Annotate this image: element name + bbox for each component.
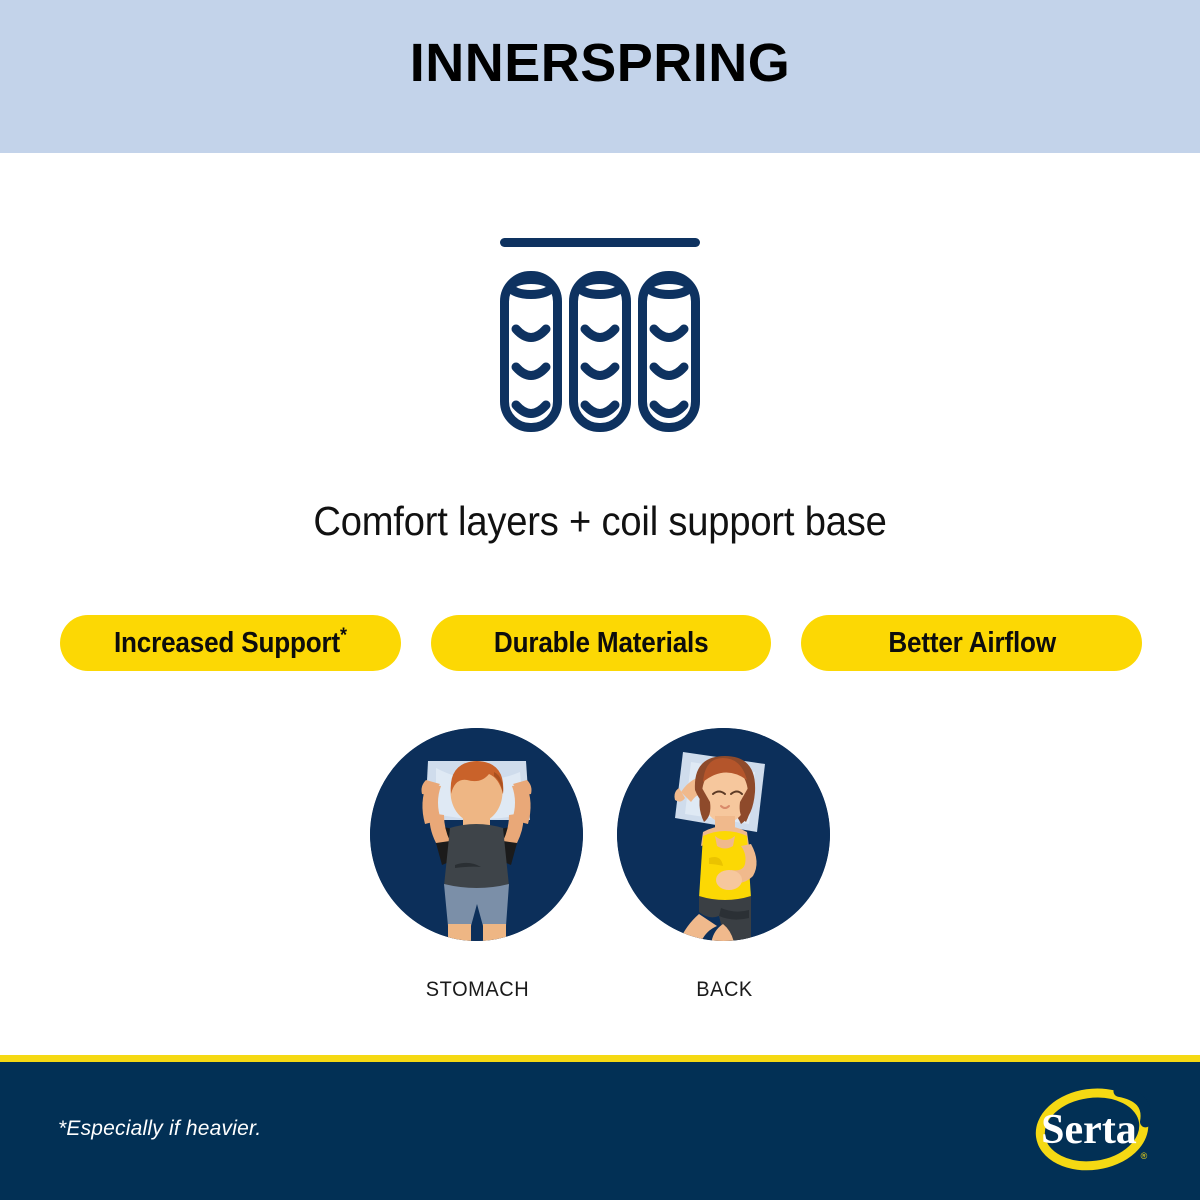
- sleep-positions-row: STOMACH: [0, 728, 1200, 1018]
- footnote-text: *Especially if heavier.: [58, 1117, 261, 1141]
- footer-accent-stripe: [0, 1055, 1200, 1062]
- coil-top-bar: [500, 238, 700, 247]
- feature-pill-label: Better Airflow: [888, 627, 1056, 659]
- sleep-position-label: STOMACH: [375, 978, 579, 1002]
- infographic-page: INNERSPRING: [0, 0, 1200, 1200]
- serta-logo[interactable]: Serta ®: [1032, 1083, 1158, 1179]
- registered-trademark-icon: ®: [1141, 1151, 1148, 1161]
- feature-pill-increased-support[interactable]: Increased Support*: [60, 615, 401, 671]
- feature-pill-row: Increased Support* Durable Materials Bet…: [60, 615, 1142, 671]
- feature-pill-label: Durable Materials: [494, 627, 709, 659]
- footnote-marker: *: [340, 624, 347, 646]
- feature-pill-better-airflow[interactable]: Better Airflow: [801, 615, 1142, 671]
- sleep-position-stomach[interactable]: STOMACH: [370, 728, 585, 1002]
- sleep-position-label: BACK: [622, 978, 826, 1002]
- stomach-sleeper-illustration: [370, 728, 583, 941]
- back-sleeper-illustration: [617, 728, 830, 941]
- feature-pill-durable-materials[interactable]: Durable Materials: [431, 615, 772, 671]
- serta-wordmark: Serta: [1041, 1107, 1137, 1153]
- subtitle: Comfort layers + coil support base: [42, 498, 1158, 545]
- feature-pill-label: Increased Support: [114, 627, 340, 659]
- sleep-position-back[interactable]: BACK: [617, 728, 832, 1002]
- page-title: INNERSPRING: [0, 0, 1200, 153]
- pocketed-coils-icon: [480, 225, 720, 450]
